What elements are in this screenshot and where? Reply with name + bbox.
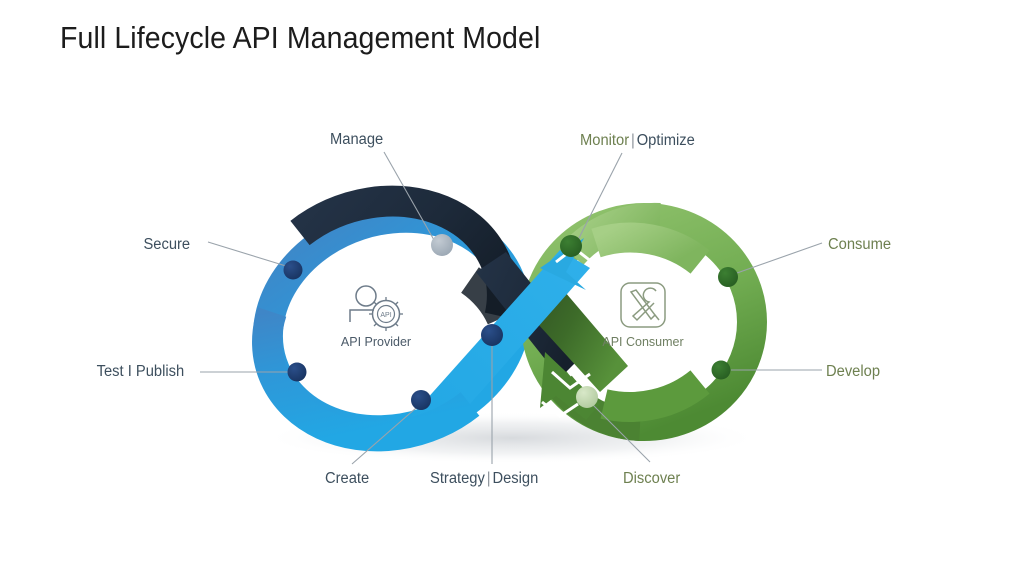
api-provider-center-label: API Provider xyxy=(341,335,411,349)
optimize-text: Optimize xyxy=(637,132,695,149)
dot-monitor-optimize[interactable] xyxy=(560,235,582,257)
stage-label-discover[interactable]: Discover xyxy=(623,470,680,488)
dot-create[interactable] xyxy=(411,390,431,410)
stage-label-strategy-design[interactable]: Strategy|Design xyxy=(430,470,538,488)
dot-discover[interactable] xyxy=(576,386,598,408)
stage-label-monitor-optimize[interactable]: Monitor|Optimize xyxy=(580,132,695,150)
stage-label-manage[interactable]: Manage xyxy=(330,131,383,149)
stage-label-develop[interactable]: Develop xyxy=(826,363,880,381)
infinity-lifecycle-diagram: API xyxy=(0,0,1024,576)
connector-consume xyxy=(737,243,822,273)
dot-secure[interactable] xyxy=(284,261,303,280)
screwdriver-tip-icon xyxy=(655,315,659,320)
gear-icon: API xyxy=(369,297,403,331)
gear-api-text: API xyxy=(380,312,391,319)
stage-label-consume[interactable]: Consume xyxy=(828,236,891,254)
person-body-icon xyxy=(350,310,374,322)
person-gear-api-icon: API xyxy=(350,286,403,331)
wrench-icon xyxy=(633,288,656,320)
slide-canvas: Full Lifecycle API Management Model xyxy=(0,0,1024,576)
right-ring-front-arc xyxy=(596,238,700,262)
strategy-separator: | xyxy=(485,470,493,487)
dot-consume[interactable] xyxy=(718,267,738,287)
crossed-tools-icon xyxy=(621,283,665,327)
stage-label-secure[interactable]: Secure xyxy=(143,236,190,254)
dot-test-publish[interactable] xyxy=(288,363,307,382)
person-head-icon xyxy=(356,286,376,306)
monitor-separator: | xyxy=(629,132,637,149)
monitor-text: Monitor xyxy=(580,132,629,149)
dot-strategy-design[interactable] xyxy=(481,324,503,346)
api-consumer-center-label: API Consumer xyxy=(602,335,683,349)
design-text: Design xyxy=(492,470,538,487)
right-ring-front-arc-lower xyxy=(604,382,700,407)
dot-manage[interactable] xyxy=(431,234,453,256)
strategy-text: Strategy xyxy=(430,470,485,487)
dot-develop[interactable] xyxy=(712,361,731,380)
connector-secure xyxy=(208,242,286,266)
stage-label-test-publish[interactable]: Test I Publish xyxy=(97,363,185,381)
stage-label-create[interactable]: Create xyxy=(325,470,369,488)
